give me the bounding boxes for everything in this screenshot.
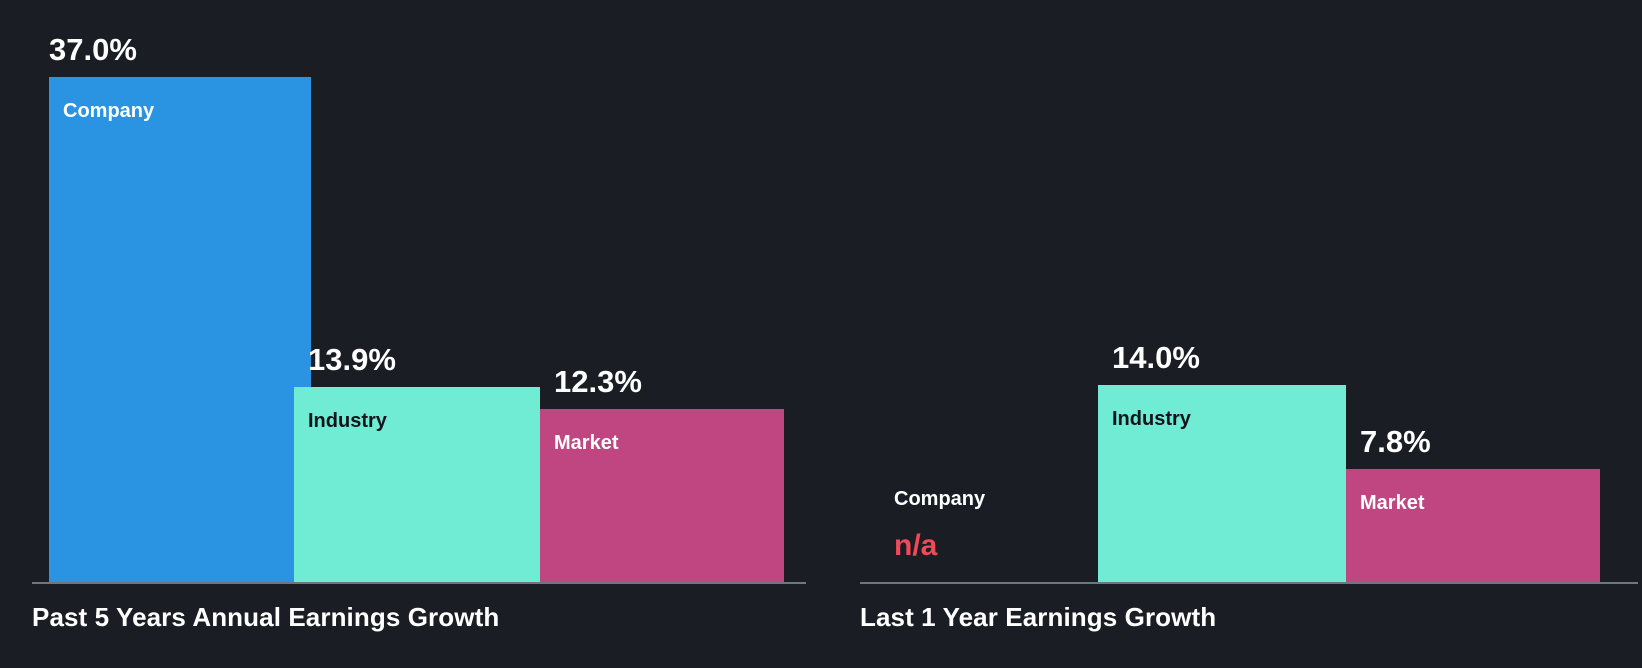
past-5-years-panel: 37.0% Company 13.9% Industry 12.3% Marke… bbox=[0, 0, 810, 668]
bar-group-company-5y: 37.0% Company bbox=[49, 77, 311, 582]
bar-label-market-5y: Market bbox=[554, 433, 618, 453]
bar-value-market-1y: 7.8% bbox=[1360, 426, 1431, 457]
left-panel-caption: Past 5 Years Annual Earnings Growth bbox=[32, 602, 499, 633]
bar-label-industry-5y: Industry bbox=[308, 411, 387, 431]
bar-value-industry-1y: 14.0% bbox=[1112, 342, 1200, 373]
bar-value-company-5y: 37.0% bbox=[49, 34, 137, 65]
bar-value-market-5y: 12.3% bbox=[554, 366, 642, 397]
last-1-year-panel: Company n/a 14.0% Industry 7.8% Market L… bbox=[828, 0, 1642, 668]
right-baseline bbox=[860, 582, 1638, 584]
left-plot-area: 37.0% Company 13.9% Industry 12.3% Marke… bbox=[32, 20, 792, 582]
bar-group-industry-5y: 13.9% Industry bbox=[294, 387, 540, 582]
earnings-growth-chart: 37.0% Company 13.9% Industry 12.3% Marke… bbox=[0, 0, 1642, 668]
left-baseline bbox=[32, 582, 806, 584]
bar-group-market-1y: 7.8% Market bbox=[1346, 469, 1600, 582]
bar-value-industry-5y: 13.9% bbox=[308, 344, 396, 375]
bar-label-industry-1y: Industry bbox=[1112, 409, 1191, 429]
bar-label-company-1y: Company bbox=[894, 489, 985, 509]
bar-group-industry-1y: 14.0% Industry bbox=[1098, 385, 1346, 582]
right-plot-area: Company n/a 14.0% Industry 7.8% Market bbox=[860, 20, 1624, 582]
bar-market-1y[interactable] bbox=[1346, 469, 1600, 582]
bar-company-5y[interactable] bbox=[49, 77, 311, 582]
bar-value-company-1y: n/a bbox=[894, 531, 937, 561]
right-panel-caption: Last 1 Year Earnings Growth bbox=[860, 602, 1216, 633]
bar-label-market-1y: Market bbox=[1360, 493, 1424, 513]
bar-group-market-5y: 12.3% Market bbox=[540, 409, 784, 582]
bar-label-company-5y: Company bbox=[63, 101, 154, 121]
